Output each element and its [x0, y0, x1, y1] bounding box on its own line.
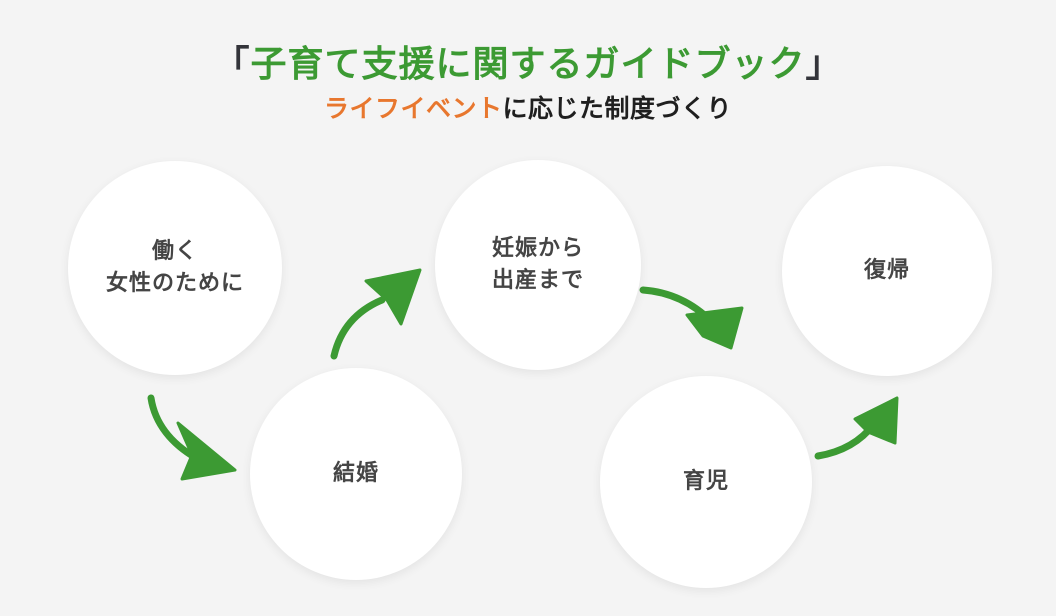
flow-node-label: 妊娠から 出産まで: [492, 233, 584, 297]
arrow-ninshin-to-ikuji: [643, 290, 742, 348]
title-open-bracket: 「: [213, 44, 250, 85]
flow-node-fukki[interactable]: 復帰: [782, 166, 992, 376]
flow-node-label: 育児: [683, 466, 729, 498]
arrow-hataraku-to-kekkon: [151, 398, 235, 479]
subtitle-accent-text: ライフイベント: [324, 94, 503, 123]
title-block: 「子育て支援に関するガイドブック」 ライフイベントに応じた制度づくり: [0, 42, 1056, 126]
page-title: 「子育て支援に関するガイドブック」: [0, 42, 1056, 87]
flow-node-kekkon[interactable]: 結婚: [250, 368, 462, 580]
flow-node-hataraku[interactable]: 働く 女性のために: [68, 161, 282, 375]
title-close-bracket: 」: [806, 44, 843, 85]
flow-node-label: 結婚: [333, 458, 379, 490]
diagram-canvas: 「子育て支援に関するガイドブック」 ライフイベントに応じた制度づくり 働く 女性…: [0, 0, 1056, 616]
flow-node-label: 働く 女性のために: [106, 236, 244, 300]
subtitle-rest-text: に応じた制度づくり: [503, 94, 733, 123]
title-highlight-text: 子育て支援に関するガイドブック: [250, 44, 805, 85]
flow-node-ikuji[interactable]: 育児: [600, 376, 812, 588]
flow-node-label: 復帰: [864, 255, 910, 287]
page-subtitle: ライフイベントに応じた制度づくり: [0, 93, 1056, 126]
flow-node-ninshin[interactable]: 妊娠から 出産まで: [435, 160, 641, 370]
arrow-kekkon-to-ninshin: [334, 270, 420, 356]
arrow-ikuji-to-fukki: [818, 398, 897, 456]
